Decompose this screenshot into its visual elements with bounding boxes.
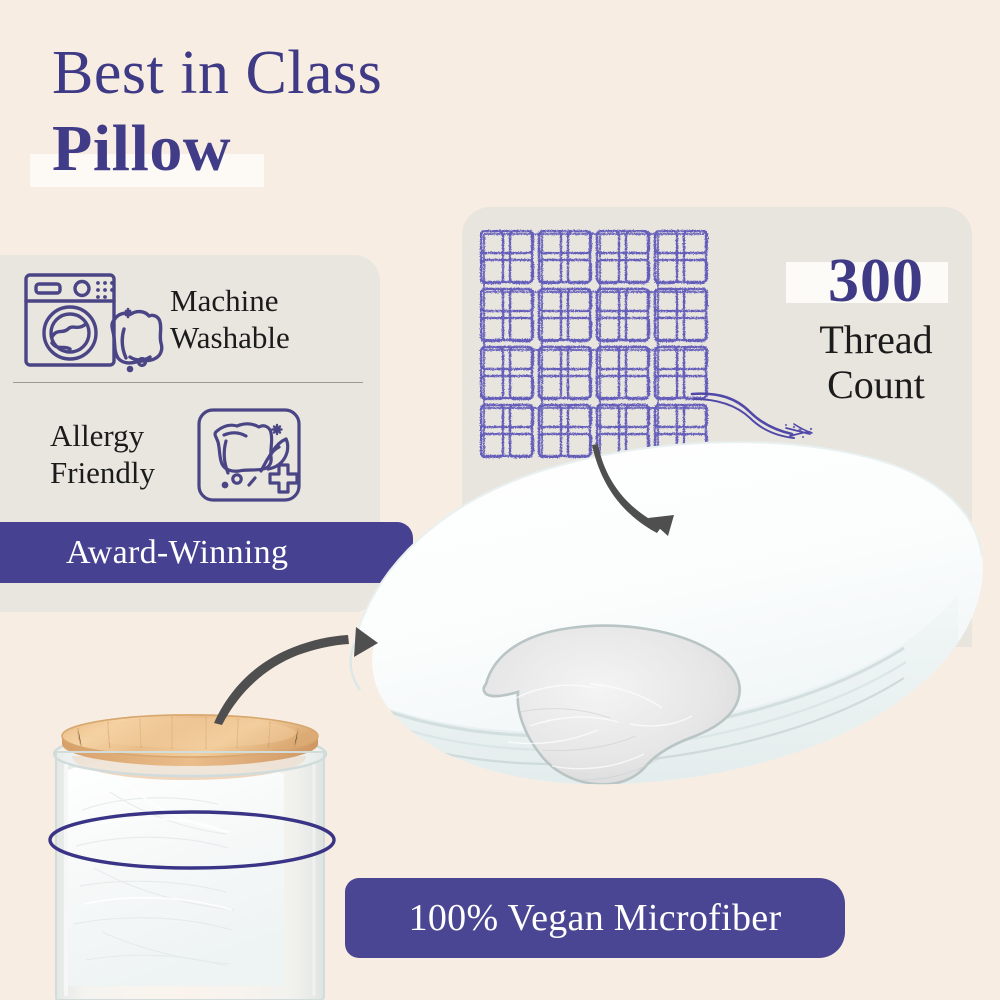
curved-arrow-icon	[210, 625, 390, 735]
title-line-1: Best in Class	[52, 42, 572, 104]
feature-label-machine-washable: Machine Washable	[170, 283, 374, 356]
feature-item-machine-washable: Machine Washable	[14, 265, 374, 375]
feature-item-allergy-friendly: Allergy Friendly	[14, 402, 374, 508]
curved-arrow-icon	[590, 440, 710, 550]
thread-count-word-count: Count	[786, 363, 966, 408]
microfiber-jar-image	[20, 700, 360, 1000]
feature-divider	[13, 382, 363, 383]
page-title: Best in Class Pillow	[52, 42, 572, 192]
vegan-microfiber-banner: 100% Vegan Microfiber	[345, 878, 845, 958]
fabric-weave-swatch	[478, 228, 710, 460]
feature-label-allergy-friendly: Allergy Friendly	[14, 418, 189, 491]
title-line-2-wrap: Pillow	[52, 116, 572, 192]
thread-count-block: 300 Thread Count	[786, 250, 966, 408]
thread-count-word-thread: Thread	[786, 318, 966, 363]
pillow-feather-cross-icon	[193, 405, 305, 505]
washing-machine-icon	[14, 265, 164, 375]
title-line-2: Pillow	[52, 116, 572, 182]
vegan-microfiber-label: 100% Vegan Microfiber	[409, 896, 782, 940]
thread-count-number: 300	[786, 250, 966, 312]
award-winning-label: Award-Winning	[0, 534, 288, 572]
infographic-canvas: Best in Class Pillow	[0, 0, 1000, 1000]
